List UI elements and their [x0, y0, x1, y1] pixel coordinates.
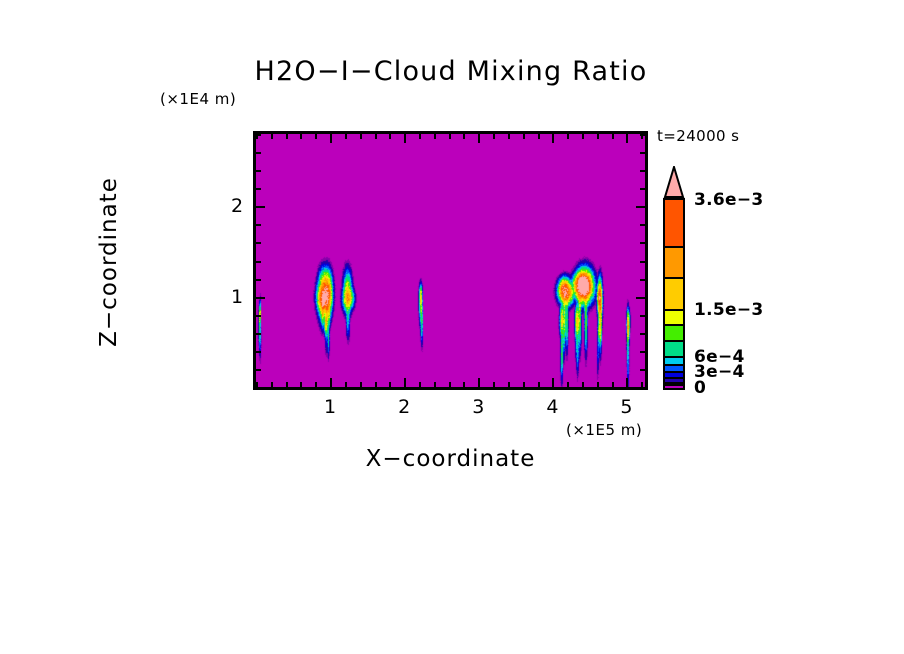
tick-mark	[493, 134, 495, 139]
tick-mark	[567, 382, 569, 387]
y-tick-label: 2	[231, 195, 243, 217]
tick-mark	[256, 206, 265, 208]
colorbar-band	[665, 341, 683, 357]
tick-mark	[256, 279, 261, 281]
tick-mark	[640, 279, 645, 281]
tick-mark	[463, 382, 465, 387]
colorbar-band	[665, 325, 683, 341]
tick-mark	[582, 382, 584, 387]
tick-mark	[640, 387, 645, 389]
tick-mark	[640, 188, 645, 190]
tick-mark	[300, 382, 302, 387]
tick-mark	[612, 382, 614, 387]
tick-mark	[419, 382, 421, 387]
tick-mark	[389, 134, 391, 139]
tick-mark	[640, 134, 645, 136]
tick-mark	[286, 382, 288, 387]
tick-mark	[640, 152, 645, 154]
tick-mark	[449, 382, 451, 387]
tick-mark	[552, 378, 554, 387]
tick-mark	[256, 224, 261, 226]
tick-mark	[360, 134, 362, 139]
tick-mark	[256, 297, 265, 299]
x-tick-label: 2	[398, 396, 410, 418]
colorbar-band-divider	[665, 277, 683, 279]
tick-mark	[640, 333, 645, 335]
tick-mark	[597, 134, 599, 139]
tick-mark	[626, 134, 628, 143]
tick-mark	[360, 382, 362, 387]
tick-mark	[256, 333, 261, 335]
tick-mark	[256, 188, 261, 190]
tick-mark	[271, 382, 273, 387]
tick-mark	[626, 378, 628, 387]
tick-mark	[330, 378, 332, 387]
tick-mark	[256, 315, 261, 317]
tick-mark	[404, 378, 406, 387]
figure-canvas: H2O−I−Cloud Mixing Ratio (×1E4 m) (×1E5 …	[0, 0, 904, 654]
tick-mark	[434, 134, 436, 139]
plot-area	[253, 131, 648, 390]
tick-mark	[612, 134, 614, 139]
tick-mark	[330, 134, 332, 143]
colorbar-band-divider	[665, 371, 683, 373]
x-tick-label: 3	[472, 396, 484, 418]
tick-mark	[375, 134, 377, 139]
tick-mark	[640, 315, 645, 317]
tick-mark	[463, 134, 465, 139]
tick-mark	[300, 134, 302, 139]
tick-mark	[636, 297, 645, 299]
colorbar-band	[665, 247, 683, 278]
tick-mark	[315, 382, 317, 387]
time-annotation: t=24000 s	[657, 127, 739, 145]
colorbar-band-divider	[665, 340, 683, 342]
tick-mark	[256, 351, 261, 353]
colorbar	[663, 166, 685, 390]
tick-mark	[478, 134, 480, 143]
colorbar-band-divider	[665, 309, 683, 311]
tick-mark	[256, 170, 261, 172]
tick-mark	[375, 382, 377, 387]
tick-mark	[523, 382, 525, 387]
tick-mark	[256, 387, 261, 389]
colorbar-band-divider	[665, 382, 683, 384]
tick-mark	[640, 261, 645, 263]
colorbar-band-divider	[665, 377, 683, 379]
colorbar-tick-label: 3.6e−3	[694, 190, 764, 210]
page-title: H2O−I−Cloud Mixing Ratio	[0, 56, 903, 87]
x-axis-title: X−coordinate	[253, 446, 648, 472]
x-tick-label: 5	[620, 396, 632, 418]
colorbar-tick-label: 0	[694, 378, 706, 398]
colorbar-extend-arrow-icon	[663, 166, 685, 198]
tick-mark	[256, 152, 261, 154]
tick-mark	[582, 134, 584, 139]
y-axis-title: Z−coordinate	[96, 132, 122, 392]
tick-mark	[256, 134, 261, 136]
tick-mark	[256, 369, 261, 371]
colorbar-band	[665, 278, 683, 309]
heatmap-field	[256, 134, 645, 387]
tick-mark	[256, 242, 261, 244]
colorbar-bands	[663, 198, 685, 390]
tick-mark	[419, 134, 421, 139]
tick-mark	[640, 369, 645, 371]
x-tick-label: 1	[324, 396, 336, 418]
tick-mark	[493, 382, 495, 387]
colorbar-band-divider	[665, 384, 683, 386]
tick-mark	[640, 351, 645, 353]
tick-mark	[478, 378, 480, 387]
colorbar-band	[665, 200, 683, 247]
tick-mark	[345, 134, 347, 139]
colorbar-band-divider	[665, 324, 683, 326]
tick-mark	[508, 382, 510, 387]
tick-mark	[636, 206, 645, 208]
colorbar-band-divider	[665, 364, 683, 366]
colorbar-band	[665, 310, 683, 326]
tick-mark	[256, 261, 261, 263]
tick-mark	[640, 170, 645, 172]
tick-mark	[640, 242, 645, 244]
tick-mark	[567, 134, 569, 139]
colorbar-band-divider	[665, 246, 683, 248]
tick-mark	[508, 134, 510, 139]
tick-mark	[434, 382, 436, 387]
tick-mark	[538, 382, 540, 387]
tick-mark	[552, 134, 554, 143]
tick-mark	[523, 134, 525, 139]
x-axis-unit-caption: (×1E5 m)	[566, 421, 642, 439]
x-tick-label: 4	[546, 396, 558, 418]
y-axis-unit-caption: (×1E4 m)	[160, 90, 236, 108]
colorbar-band-divider	[665, 356, 683, 358]
tick-mark	[404, 134, 406, 143]
tick-mark	[389, 382, 391, 387]
tick-mark	[449, 134, 451, 139]
tick-mark	[538, 134, 540, 139]
colorbar-tick-label: 1.5e−3	[694, 300, 764, 320]
tick-mark	[597, 382, 599, 387]
tick-mark	[271, 134, 273, 139]
tick-mark	[315, 134, 317, 139]
tick-mark	[345, 382, 347, 387]
tick-mark	[640, 224, 645, 226]
y-tick-label: 1	[231, 286, 243, 308]
tick-mark	[286, 134, 288, 139]
